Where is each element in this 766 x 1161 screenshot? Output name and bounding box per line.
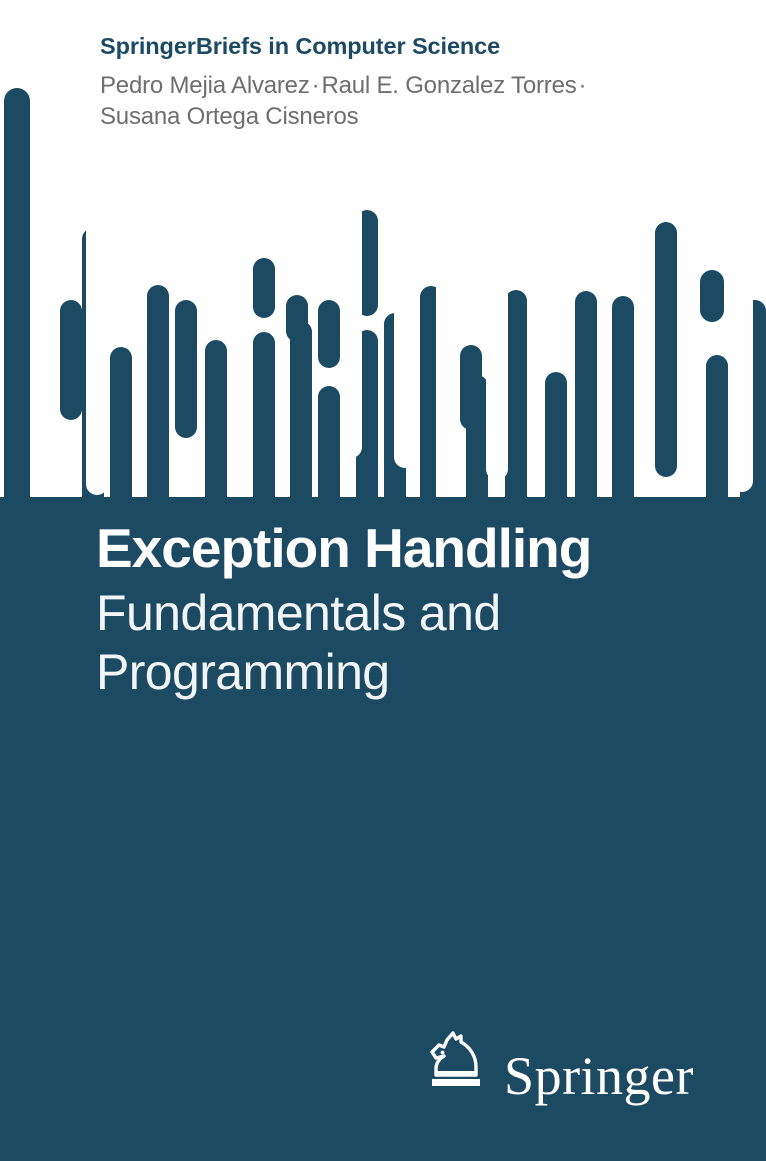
springer-wordmark: Springer	[504, 1049, 694, 1103]
cover-graphic	[0, 0, 766, 520]
springer-logo: Springer	[423, 1027, 694, 1099]
title-block: Exception Handling Fundamentals and Prog…	[0, 516, 766, 702]
book-subtitle: Fundamentals and Programming	[0, 580, 766, 702]
book-subtitle-line-2: Programming	[96, 643, 726, 702]
book-title: Exception Handling	[0, 516, 766, 580]
springer-knight-icon	[423, 1027, 487, 1099]
book-subtitle-line-1: Fundamentals and	[96, 584, 726, 643]
book-cover: SpringerBriefs in Computer Science Pedro…	[0, 0, 766, 1161]
